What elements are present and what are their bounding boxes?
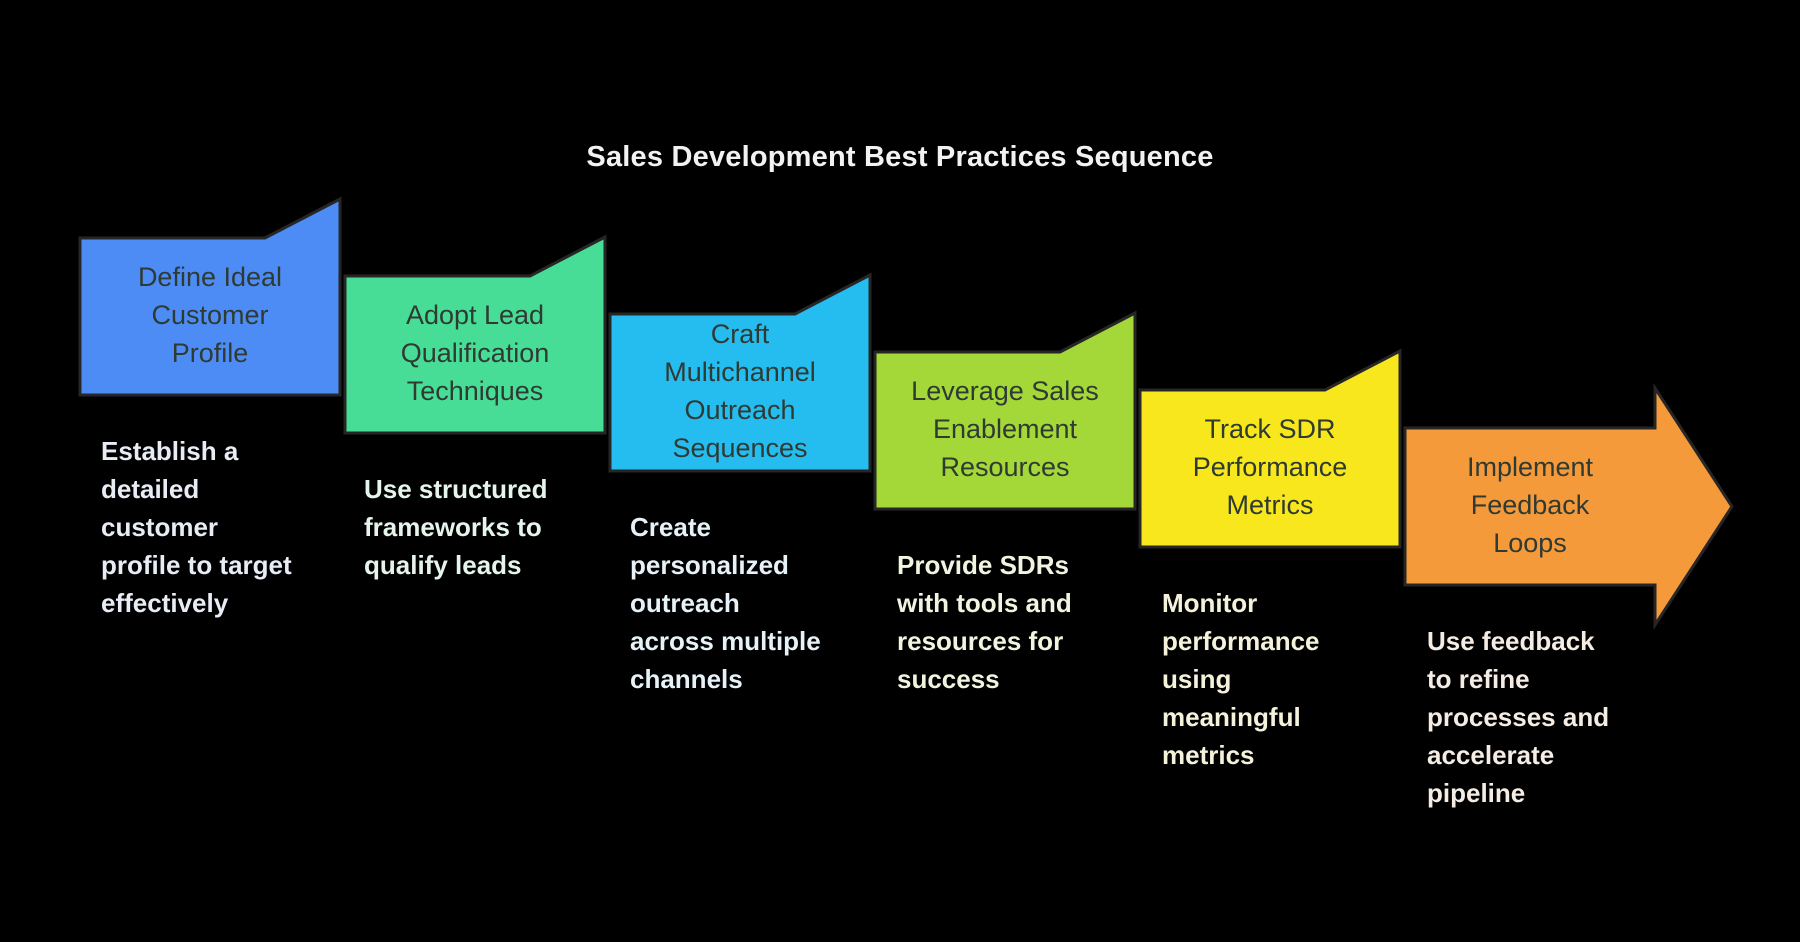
process-step-description-6: Use feedback to refine processes and acc…: [1427, 622, 1657, 812]
process-step-description-1: Establish a detailed customer profile to…: [101, 432, 316, 622]
process-step-description-5: Monitor performance using meaningful met…: [1162, 584, 1377, 774]
process-step-description-3: Create personalized outreach across mult…: [630, 508, 860, 698]
diagram-canvas: Sales Development Best Practices Sequenc…: [0, 0, 1800, 942]
process-step-description-2: Use structured frameworks to qualify lea…: [364, 470, 579, 584]
process-step-descriptions: Establish a detailed customer profile to…: [0, 0, 1800, 942]
process-step-description-4: Provide SDRs with tools and resources fo…: [897, 546, 1112, 698]
